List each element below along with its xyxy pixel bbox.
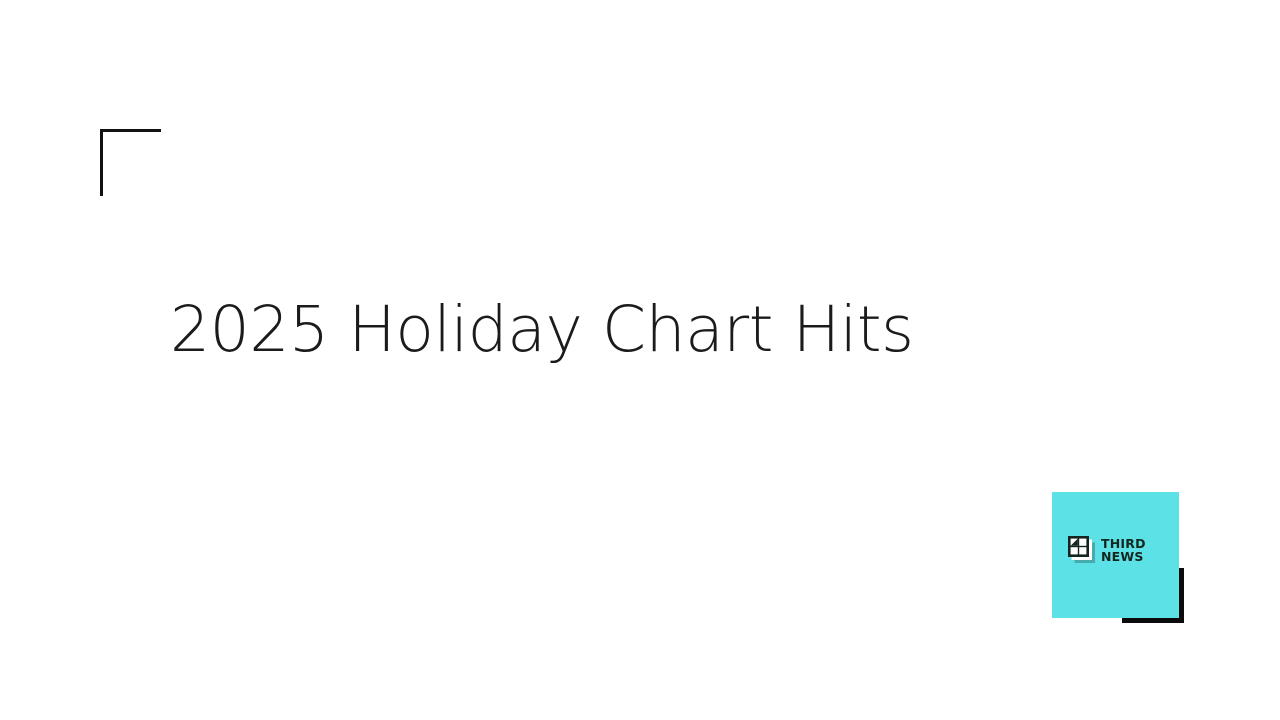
logo-wordmark: THIRD NEWS <box>1101 537 1146 563</box>
logo-card: THIRD NEWS <box>1052 492 1179 618</box>
logo-wordmark-line2: NEWS <box>1101 550 1146 563</box>
logo-wordmark-line1: THIRD <box>1101 537 1146 550</box>
title-block: 2025 Holiday Chart Hits <box>170 296 1070 364</box>
corner-bracket-decoration <box>100 129 161 196</box>
corner-bracket-horizontal-bar <box>100 129 161 132</box>
corner-bracket-vertical-bar <box>100 129 103 196</box>
title-slide: 2025 Holiday Chart Hits <box>0 0 1280 720</box>
logo-lockup: THIRD NEWS <box>1052 492 1184 623</box>
logo-inner: THIRD NEWS <box>1068 536 1146 563</box>
slide-title: 2025 Holiday Chart Hits <box>170 296 1070 364</box>
newspaper-window-icon <box>1068 536 1095 563</box>
